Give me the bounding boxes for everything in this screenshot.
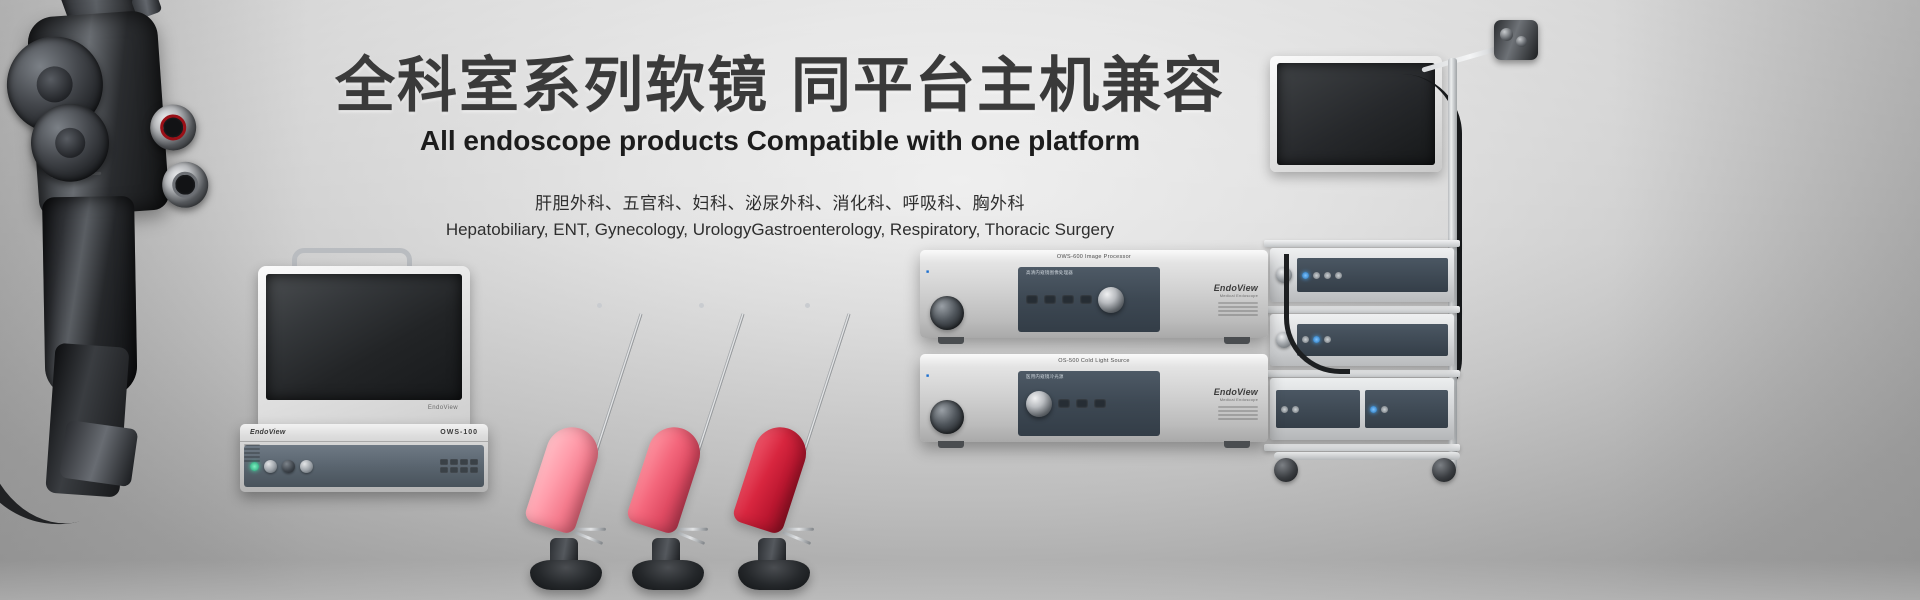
console-base-header: EndoView OWS-100	[240, 424, 488, 442]
cart-base-frame	[1274, 452, 1460, 460]
ows-100-console-product: EndoView EndoView OWS-100	[230, 248, 490, 496]
light-source-body: ■ 医用内窥镜冷光源 EndoView Medical Endoscope	[920, 368, 1268, 442]
cart-wheel-right	[1432, 458, 1456, 482]
banner-text-block: 全科室系列软镜同平台主机兼容 All endoscope products Co…	[0, 52, 1560, 240]
endoscope-connector-port	[930, 296, 964, 330]
light-source-model-cn: 医用内窥镜冷光源	[1026, 374, 1064, 380]
cart-wheel-left	[1274, 458, 1298, 482]
monitor-brand-label: EndoView	[428, 405, 458, 411]
console-monitor: EndoView	[258, 266, 470, 426]
light-source-button-2	[1076, 399, 1088, 408]
light-source-header: OS-500 Cold Light Source	[920, 354, 1268, 368]
processor-dial	[1098, 287, 1124, 313]
processor-vent	[1218, 302, 1258, 316]
console-base-unit: EndoView OWS-100	[240, 424, 488, 492]
processor-brand-sub: Medical Endoscope	[1220, 293, 1258, 298]
light-source-brand: EndoView	[1214, 387, 1258, 397]
light-source-model-en: OS-500 Cold Light Source	[1058, 358, 1129, 365]
processor-control-panel: 高清内窥镜图像处理器	[1018, 267, 1160, 332]
console-keypad	[440, 459, 478, 473]
light-source-feet	[920, 441, 1268, 448]
cart-device-3	[1270, 378, 1454, 440]
instrument-handle	[523, 421, 605, 536]
light-source-port-label: ■	[926, 373, 1012, 379]
image-processor-unit: OWS-600 Image Processor ■ 高清内窥镜图像处理器 End…	[920, 250, 1268, 338]
processor-branding: EndoView Medical Endoscope	[1166, 267, 1262, 332]
light-guide-port	[930, 400, 964, 434]
instrument-tip	[597, 303, 602, 308]
floor-reflection	[0, 560, 1920, 600]
instrument-display-base	[632, 560, 704, 590]
cart-device-3-panel-right	[1365, 390, 1449, 428]
processor-stack: OWS-600 Image Processor ■ 高清内窥镜图像处理器 End…	[920, 250, 1270, 450]
processor-header: OWS-600 Image Processor	[920, 250, 1268, 264]
departments-english: Hepatobiliary, ENT, Gynecology, UrologyG…	[0, 220, 1560, 240]
console-model-label: OWS-100	[440, 429, 478, 436]
subheadline: All endoscope products Compatible with o…	[0, 125, 1560, 157]
light-source-left-section: ■	[926, 371, 1012, 436]
processor-left-section: ■	[926, 267, 1012, 332]
processor-model-cn: 高清内窥镜图像处理器	[1026, 270, 1073, 276]
light-source-button-1	[1058, 399, 1070, 408]
light-source-control-panel: 医用内窥镜冷光源	[1018, 371, 1160, 436]
monitor-bezel-chin: EndoView	[266, 400, 462, 416]
headline: 全科室系列软镜同平台主机兼容	[0, 52, 1560, 119]
instrument-tip	[699, 303, 704, 308]
console-control-panel	[244, 445, 484, 487]
instrument-display-base	[530, 560, 602, 590]
console-knob-3	[300, 460, 313, 473]
processor-button-1	[1026, 295, 1038, 304]
cart-shelf-3	[1264, 370, 1460, 377]
processor-body: ■ 高清内窥镜图像处理器 EndoView Medical Endoscope	[920, 264, 1268, 338]
instrument-handle	[625, 421, 707, 536]
headline-part-1: 全科室系列软镜	[335, 52, 769, 119]
instrument-tip	[805, 303, 810, 308]
light-source-vent	[1218, 406, 1258, 420]
departments-chinese: 肝胆外科、五官科、妇科、泌尿外科、消化科、呼吸科、胸外科	[0, 189, 1560, 214]
headline-part-2: 同平台主机兼容	[791, 52, 1225, 119]
light-source-button-3	[1094, 399, 1106, 408]
monitor-screen	[266, 274, 462, 400]
endoscopy-product-banner: 全科室系列软镜同平台主机兼容 All endoscope products Co…	[0, 0, 1920, 600]
console-brand-label: EndoView	[250, 429, 286, 436]
console-knob-1	[264, 460, 277, 473]
console-vent-grill	[244, 444, 260, 462]
processor-button-2	[1044, 295, 1056, 304]
processor-feet	[920, 337, 1268, 344]
power-led-indicator	[250, 462, 259, 471]
instrument-display-base	[738, 560, 810, 590]
console-knob-2	[282, 460, 295, 473]
cart-shelf-1	[1264, 240, 1460, 247]
processor-model-en: OWS-600 Image Processor	[1057, 254, 1131, 261]
light-source-unit: OS-500 Cold Light Source ■ 医用内窥镜冷光源 Endo…	[920, 354, 1268, 442]
processor-button-4	[1080, 295, 1092, 304]
light-source-branding: EndoView Medical Endoscope	[1166, 371, 1262, 436]
light-source-brand-sub: Medical Endoscope	[1220, 397, 1258, 402]
processor-port-label: ■	[926, 269, 1012, 275]
brightness-dial	[1026, 391, 1052, 417]
instrument-handle	[731, 421, 813, 536]
cart-shelf-4	[1264, 444, 1460, 451]
surgical-instrument-red	[724, 350, 854, 590]
processor-brand: EndoView	[1214, 283, 1258, 293]
cart-device-3-panel-left	[1276, 390, 1360, 428]
processor-button-3	[1062, 295, 1074, 304]
